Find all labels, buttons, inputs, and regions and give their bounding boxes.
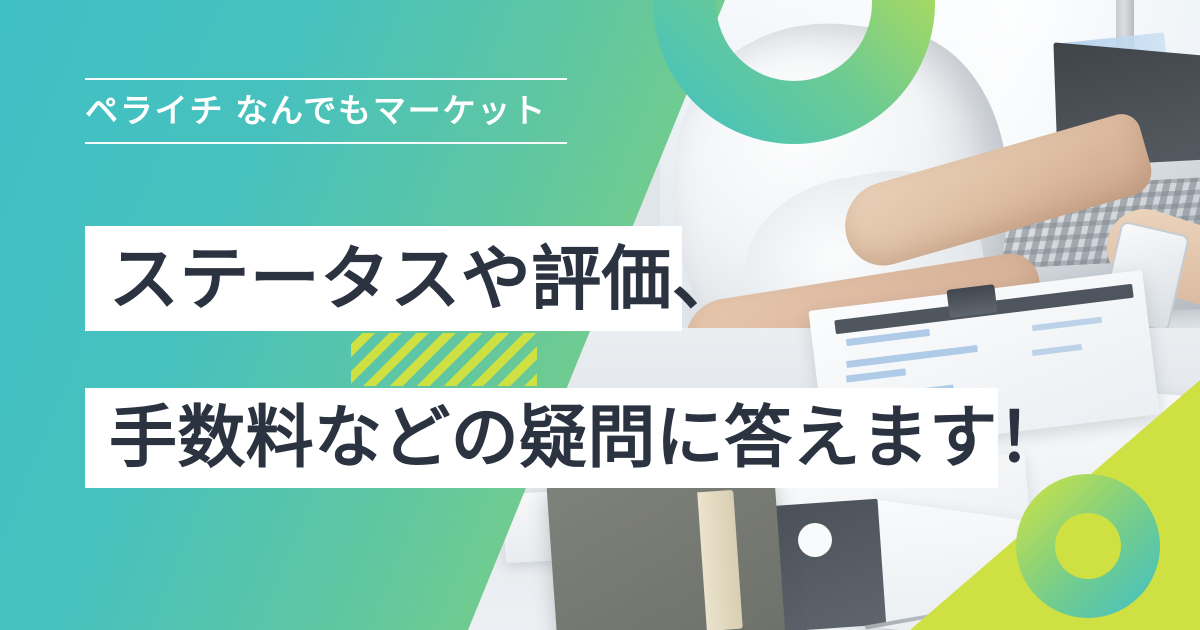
eyebrow-label: ペライチ なんでもマーケット	[85, 94, 567, 127]
donut-ring-icon	[1016, 474, 1160, 618]
photo-pie-chart	[798, 523, 832, 557]
diagonal-stripes-decoration	[351, 333, 537, 386]
banner: ペライチ なんでもマーケット ステータスや評価、 手数料などの疑問に答えます！	[0, 0, 1200, 630]
headline-line1: ステータスや評価、	[109, 244, 742, 314]
headline-box-line1: ステータスや評価、	[85, 226, 682, 331]
ring-with-diagonal-cut-icon	[653, 0, 935, 144]
eyebrow-banner: ペライチ なんでもマーケット	[85, 78, 567, 144]
photo-notebook	[547, 471, 786, 630]
headline-box-line2: 手数料などの疑問に答えます！	[85, 388, 998, 488]
photo-clipboard-clip	[946, 284, 997, 318]
headline-line2: 手数料などの疑問に答えます！	[109, 404, 1066, 472]
